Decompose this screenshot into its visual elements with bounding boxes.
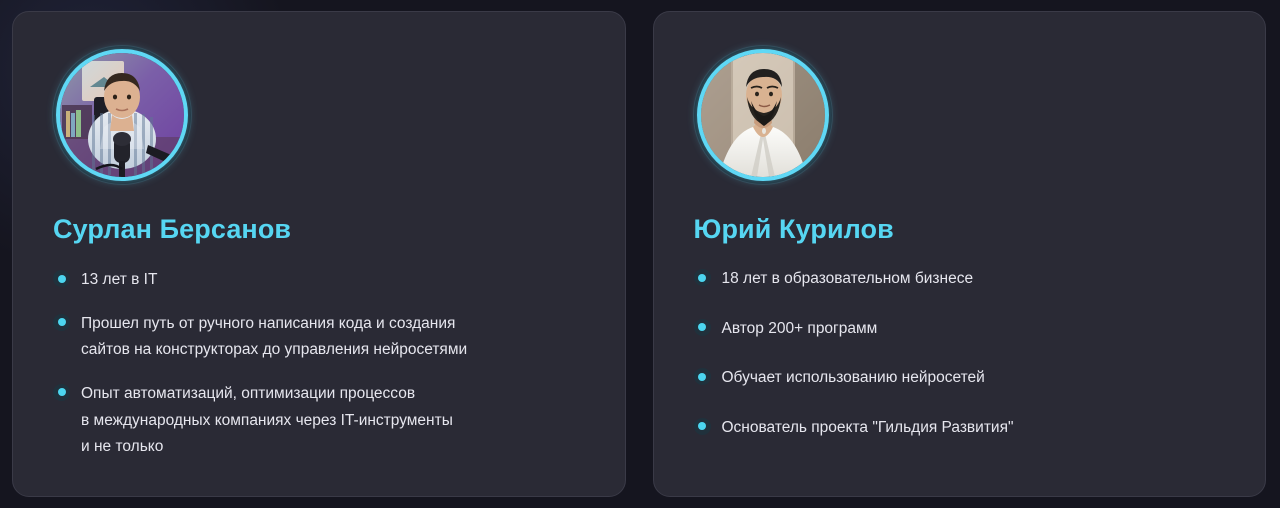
list-item-label: Обучает использованию нейросетей — [722, 365, 985, 392]
list-item-label: Опыт автоматизаций, оптимизации процессо… — [81, 381, 453, 461]
list-item-label: Прошел путь от ручного написания кода и … — [81, 311, 467, 364]
list-item: Обучает использованию нейросетей — [694, 365, 1238, 392]
bullet-dot-icon — [694, 418, 711, 435]
avatar — [694, 46, 832, 184]
avatar-photo-man-with-microphone-icon — [60, 53, 184, 177]
speaker-bullet-list: 13 лет в IT Прошел путь от ручного напис… — [53, 267, 597, 461]
list-item: 18 лет в образовательном бизнесе — [694, 266, 1238, 293]
page-title: Юрий Курилов — [694, 214, 1238, 245]
bullet-dot-icon — [53, 314, 70, 331]
list-item: Опыт автоматизаций, оптимизации процессо… — [53, 381, 597, 461]
bullet-dot-icon — [694, 269, 711, 286]
page-title: Сурлан Берсанов — [53, 214, 597, 245]
bullet-dot-icon — [53, 384, 70, 401]
avatar — [53, 46, 191, 184]
bullet-dot-icon — [53, 270, 70, 287]
bullet-dot-icon — [694, 368, 711, 385]
speaker-card-sulran-bersanov: Сурлан Берсанов 13 лет в IT Прошел путь … — [12, 11, 626, 497]
list-item: 13 лет в IT — [53, 267, 597, 294]
speaker-cards-container: Сурлан Берсанов 13 лет в IT Прошел путь … — [0, 0, 1280, 508]
list-item: Автор 200+ программ — [694, 316, 1238, 343]
avatar-photo-bearded-man-white-shirt-icon — [701, 53, 825, 177]
speaker-bullet-list: 18 лет в образовательном бизнесе Автор 2… — [694, 266, 1238, 442]
list-item-label: 18 лет в образовательном бизнесе — [722, 266, 974, 293]
list-item-label: 13 лет в IT — [81, 267, 157, 294]
list-item: Основатель проекта "Гильдия Развития" — [694, 415, 1238, 442]
speaker-card-yuriy-kurilov: Юрий Курилов 18 лет в образовательном би… — [653, 11, 1267, 497]
list-item-label: Автор 200+ программ — [722, 316, 878, 343]
list-item-label: Основатель проекта "Гильдия Развития" — [722, 415, 1014, 442]
list-item: Прошел путь от ручного написания кода и … — [53, 311, 597, 364]
bullet-dot-icon — [694, 319, 711, 336]
